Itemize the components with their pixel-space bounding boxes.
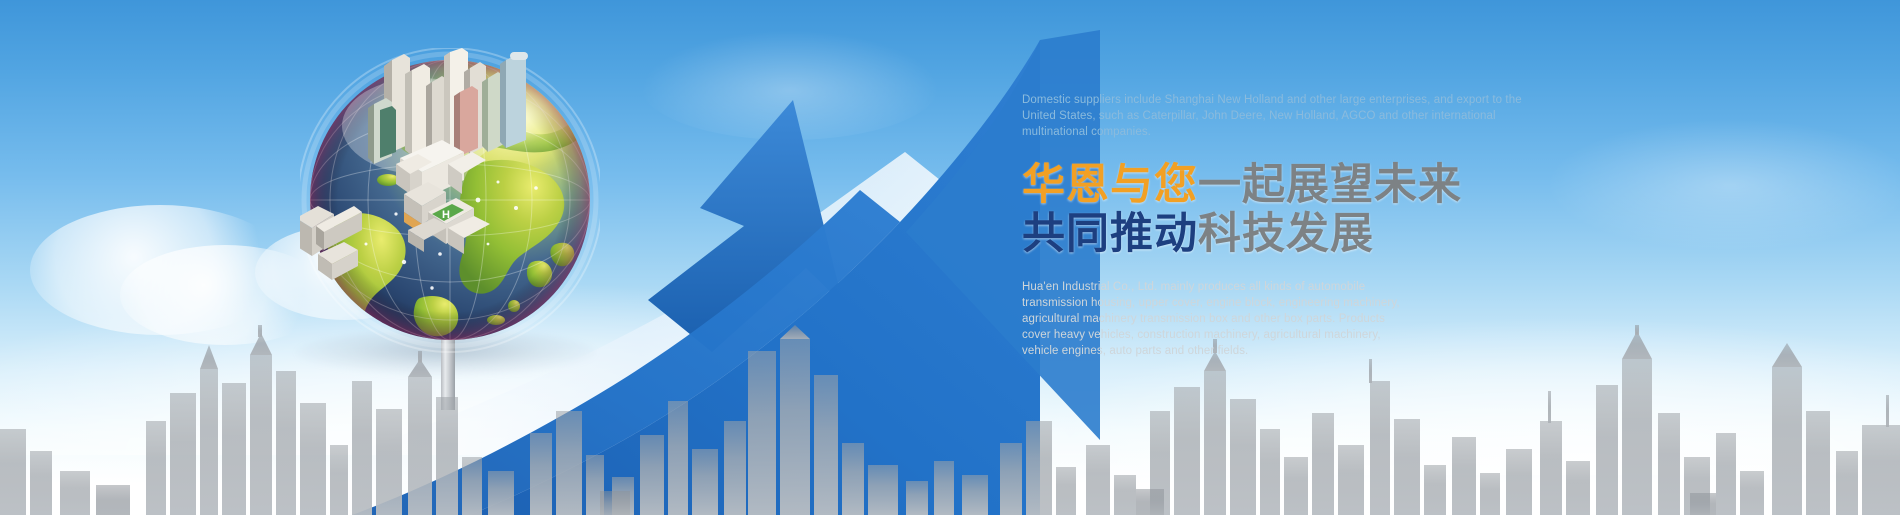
page-title: 华恩与您一起展望未来 共同推动科技发展 <box>1022 164 1522 257</box>
headline-line-1: 华恩与您一起展望未来 <box>1022 164 1522 208</box>
headline-line2-highlight: 共同推动 <box>1022 209 1198 259</box>
globe-svg: H <box>300 48 600 358</box>
lede-paragraph: Domestic suppliers include Shanghai New … <box>1022 92 1522 140</box>
arrow-svg <box>0 0 1900 515</box>
globe-with-city-illustration: H <box>300 48 600 348</box>
sky-horizon-glow <box>0 125 1900 455</box>
headline-line1-highlight: 华恩与您 <box>1022 160 1198 210</box>
cloud-shape <box>120 245 330 345</box>
arrow-head <box>648 100 843 352</box>
city-skyline-silhouette <box>0 325 1900 515</box>
body-paragraph: Hua'en Industrial Co., Ltd. mainly produ… <box>1022 279 1400 359</box>
cloud-shape <box>30 205 290 335</box>
rising-arrow-graphic <box>0 0 1900 515</box>
skyline-buildings-back <box>0 339 1900 515</box>
hero-banner: H <box>0 0 1900 515</box>
headline-line-2: 共同推动科技发展 <box>1022 213 1522 257</box>
cloud-shape <box>640 30 940 140</box>
headline-line1-rest: 一起展望未来 <box>1198 160 1462 210</box>
skyline-svg <box>0 325 1900 515</box>
cloud-shape <box>1550 120 1900 250</box>
headline-line2-rest: 科技发展 <box>1198 209 1374 259</box>
banner-copy-block: Domestic suppliers include Shanghai New … <box>1022 92 1522 359</box>
building-letter-marker: H <box>442 209 450 221</box>
